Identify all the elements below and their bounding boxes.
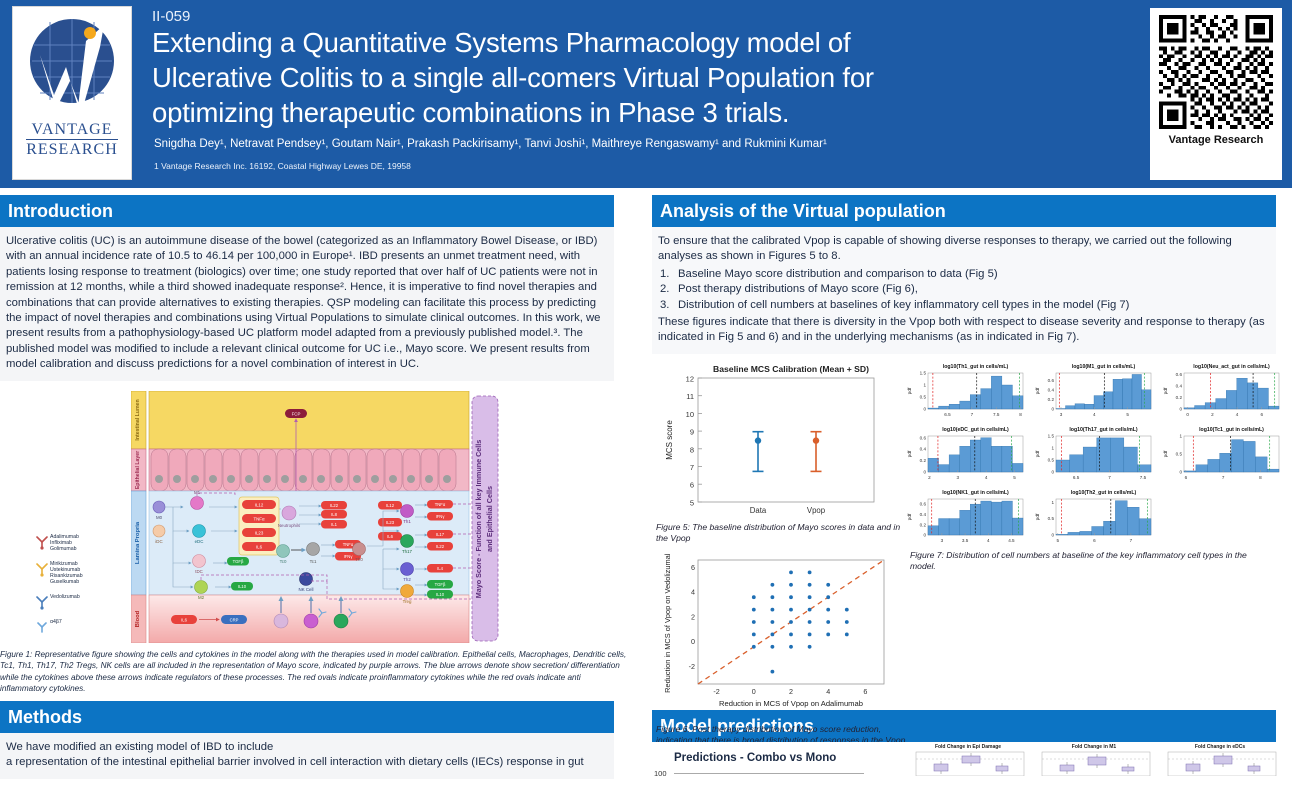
histogram-chart: log10(M1_gut in cells/mL)34500.20.40.6pd… <box>1032 360 1157 422</box>
scatter-point <box>808 620 812 624</box>
histogram-bar <box>960 446 971 472</box>
figure-8-axis <box>674 773 864 774</box>
figure-1: Adalimumab Infliximab Golimumab Mirikizu… <box>0 385 633 647</box>
figure-8-title: Predictions - Combo vs Mono <box>674 752 836 764</box>
scatter-point <box>826 632 830 636</box>
vantage-logo-mark <box>20 11 124 121</box>
list-item: 3. Distribution of cell numbers at basel… <box>658 298 1267 313</box>
lumen-marker-label: FCP <box>292 411 301 416</box>
figure-5-xtick: Vpop <box>807 506 826 515</box>
figure-5: Baseline MCS Calibration (Mean + SD) 121… <box>656 362 906 545</box>
figure-7-panel: log10(Th2_gut in cells/mL)56700.51pdf <box>1032 486 1157 548</box>
histogram-bar <box>1184 408 1195 409</box>
y-tick-label: 0.5 <box>1176 451 1183 456</box>
histogram-bar <box>1226 390 1237 409</box>
histogram-bar <box>970 440 981 472</box>
histogram-bar <box>939 518 950 534</box>
figure-8-ytick: 100 <box>654 769 667 778</box>
logo-text-research: RESEARCH <box>26 141 118 158</box>
svg-text:IL17: IL17 <box>436 532 445 537</box>
y-tick-label: 0.4 <box>920 447 927 452</box>
uc-pathophysiology-diagram: Intestinal Lumen Epithelial Layer Lamina… <box>131 391 503 643</box>
svg-text:IL22: IL22 <box>436 544 445 549</box>
svg-text:-2: -2 <box>713 687 719 696</box>
figure-5-chart: Baseline MCS Calibration (Mean + SD) 121… <box>656 362 904 517</box>
organization-logo: VANTAGE RESEARCH <box>12 6 132 180</box>
scatter-point <box>789 645 793 649</box>
list-item: 2. Post therapy distributions of Mayo sc… <box>658 282 1267 297</box>
right-column: Analysis of the Virtual population To en… <box>652 195 1292 776</box>
figure-1-caption: Figure 1: Representative figure showing … <box>0 649 633 695</box>
scatter-point <box>752 595 756 599</box>
box-3-chart <box>1160 750 1280 776</box>
svg-text:and Epithelial Cells: and Epithelial Cells <box>485 486 494 552</box>
scatter-point <box>771 670 775 674</box>
antibody-icon <box>34 533 50 551</box>
histogram-bar <box>1115 500 1127 534</box>
y-tick-label: 0.4 <box>920 512 927 517</box>
histogram-bar <box>1094 395 1104 408</box>
y-tick-label: 1 <box>1179 433 1182 438</box>
affiliation: 1 Vantage Research Inc. 16192, Coastal H… <box>154 160 1140 172</box>
x-tick-label: 6 <box>1260 412 1263 417</box>
drug-legend: Adalimumab Infliximab Golimumab Mirikizu… <box>34 533 138 643</box>
figure-6-ylabel: Reduction in MCS of Vpop on Vedolizumab <box>663 554 672 693</box>
y-tick-label: 0 <box>1051 469 1054 474</box>
histogram-bar <box>1237 378 1248 409</box>
histogram-bar <box>1247 383 1258 409</box>
section-body-introduction: Ulcerative colitis (UC) is an autoimmune… <box>0 227 614 381</box>
figure-8-box-1: Fold Change in Epi Damage <box>908 744 1028 781</box>
y-tick-label: 0.6 <box>1048 378 1055 383</box>
scatter-point <box>752 620 756 624</box>
section-header-methods: Methods <box>0 701 614 733</box>
svg-text:2: 2 <box>691 612 695 621</box>
histogram-bar <box>1080 531 1092 535</box>
list-item: 1. Baseline Mayo score distribution and … <box>658 267 1267 282</box>
svg-text:4: 4 <box>826 687 830 696</box>
x-tick-label: 3.5 <box>962 538 969 543</box>
histogram-bar <box>1132 374 1142 409</box>
histogram-bar <box>1066 405 1076 408</box>
list-item-label: Distribution of cell numbers at baseline… <box>678 299 1129 311</box>
y-tick-label: 0 <box>1051 532 1054 537</box>
svg-text:Th0: Th0 <box>355 557 363 562</box>
list-item-label: Baseline Mayo score distribution and com… <box>678 268 998 280</box>
histogram-bar <box>981 388 992 408</box>
figure-6: -202 46 -202 46 Reduction in MCS of Vpop… <box>656 554 906 747</box>
scatter-point <box>752 632 756 636</box>
scatter-point <box>826 595 830 599</box>
y-tick-label: 0 <box>1179 406 1182 411</box>
y-tick-label: 0 <box>1051 406 1054 411</box>
svg-text:IL6: IL6 <box>387 534 393 539</box>
svg-text:5: 5 <box>690 498 694 507</box>
histogram-bar <box>1012 518 1023 535</box>
scatter-point <box>826 620 830 624</box>
svg-text:Th17: Th17 <box>402 549 413 554</box>
histogram-bar <box>1124 447 1138 472</box>
figure-7-panel: log10(M1_gut in cells/mL)34500.20.40.6pd… <box>1032 360 1157 422</box>
scatter-point <box>789 620 793 624</box>
panel-ylabel: pdf <box>907 513 913 520</box>
scatter-point <box>789 608 793 612</box>
svg-text:-2: -2 <box>689 662 695 671</box>
histogram-bar <box>1012 463 1023 472</box>
x-tick-label: 2 <box>1211 412 1214 417</box>
logo-text-vantage: VANTAGE <box>32 121 113 138</box>
histogram-bar <box>1085 404 1095 409</box>
histogram-chart: log10(Neu_act_gut in cells/mL)024600.20.… <box>1160 360 1285 422</box>
x-tick-label: 6.5 <box>1073 475 1080 480</box>
x-tick-label: 7 <box>1130 538 1133 543</box>
x-tick-label: 4.5 <box>1008 538 1015 543</box>
svg-text:6: 6 <box>690 481 694 490</box>
svg-text:eDC: eDC <box>195 539 204 544</box>
poster-id: II-059 <box>152 8 1140 25</box>
author-list: Snigdha Dey¹, Netravat Pendsey¹, Goutam … <box>154 137 1140 151</box>
drug-name: Vedolizumab <box>50 594 80 600</box>
y-tick-label: 0.5 <box>1048 457 1055 462</box>
figure-7-panel: log10(eDC_gut in cells/mL)234500.20.40.6… <box>904 423 1029 485</box>
x-tick-label: 4 <box>1093 412 1096 417</box>
y-tick-label: 1 <box>1051 500 1054 505</box>
panel-title: log10(NK1_gut in cells/mL) <box>942 490 1009 496</box>
logo-divider <box>26 139 118 140</box>
figure-5-title: Baseline MCS Calibration (Mean + SD) <box>713 364 869 374</box>
drug-names: α4β7 <box>50 618 62 625</box>
x-tick-label: 8 <box>1019 412 1022 417</box>
figure-8-box-3: Fold Change in eDCs <box>1160 744 1280 781</box>
y-tick-label: 0.5 <box>920 394 927 399</box>
histogram-bar <box>1110 438 1124 472</box>
panel-ylabel: pdf <box>1035 513 1041 520</box>
scatter-point <box>789 595 793 599</box>
svg-text:8: 8 <box>690 445 694 454</box>
figure-7-panel: log10(Th1_gut in cells/mL)6.577.5800.511… <box>904 360 1029 422</box>
histogram-chart: log10(Th1_gut in cells/mL)6.577.5800.511… <box>904 360 1029 422</box>
svg-text:Mayo Score - Function of all: Mayo Score - Function of all key Immune … <box>474 439 483 598</box>
x-tick-label: 8 <box>1259 475 1262 480</box>
histogram-bar <box>1142 390 1152 409</box>
svg-text:IL12: IL12 <box>255 502 264 507</box>
histogram-bar <box>991 502 1002 535</box>
figure-6-chart: -202 46 -202 46 Reduction in MCS of Vpop… <box>656 554 904 719</box>
y-tick-label: 0.2 <box>920 522 927 527</box>
svg-text:Th1: Th1 <box>403 519 411 524</box>
svg-text:TNFα: TNFα <box>343 542 354 547</box>
histogram-bar <box>1268 406 1279 409</box>
poster-header: VANTAGE RESEARCH II-059 Extending a Quan… <box>0 0 1292 188</box>
histogram-bar <box>1196 465 1208 472</box>
y-tick-label: 0.2 <box>1048 397 1055 402</box>
scatter-point <box>808 583 812 587</box>
svg-text:IL6: IL6 <box>181 617 187 622</box>
poster-title-line-2: Ulcerative Colitis to a single all-comer… <box>152 61 1140 94</box>
drug-names: Vedolizumab <box>50 593 80 600</box>
histogram-bar <box>1012 396 1023 409</box>
scatter-point <box>808 570 812 574</box>
svg-text:IFNγ: IFNγ <box>344 554 354 559</box>
panel-ylabel: pdf <box>1163 450 1169 457</box>
y-tick-label: 0.6 <box>1176 372 1183 377</box>
scatter-point <box>789 570 793 574</box>
svg-text:IL8: IL8 <box>331 512 337 517</box>
svg-text:Neutrophils: Neutrophils <box>278 523 301 528</box>
histogram-bar <box>991 446 1002 472</box>
y-tick-label: 0.5 <box>1048 516 1055 521</box>
scatter-point <box>845 632 849 636</box>
list-item-number: 3. <box>660 298 669 313</box>
histogram-bar <box>949 518 960 534</box>
histogram-chart: log10(NK1_gut in cells/mL)33.544.500.20.… <box>904 486 1029 548</box>
panel-ylabel: pdf <box>1163 387 1169 394</box>
x-tick-label: 7 <box>1222 475 1225 480</box>
histogram-bar <box>1267 469 1279 472</box>
histogram-bar <box>981 438 992 472</box>
panel-title: log10(Tc1_gut in cells/mL) <box>1199 427 1264 433</box>
panel-title: log10(Neu_act_gut in cells/mL) <box>1193 364 1270 370</box>
svg-text:IL10: IL10 <box>436 592 445 597</box>
methods-text-line-1: We have modified an existing model of IB… <box>6 740 605 755</box>
svg-text:IL4: IL4 <box>437 566 443 571</box>
svg-text:TNFα: TNFα <box>435 502 446 507</box>
panel-title: log10(Th1_gut in cells/mL) <box>943 364 1009 370</box>
y-tick-label: 0.4 <box>1176 383 1183 388</box>
y-tick-label: 1 <box>1051 445 1054 450</box>
svg-text:IL23: IL23 <box>255 530 264 535</box>
scatter-point <box>789 583 793 587</box>
y-tick-label: 0.2 <box>1176 395 1183 400</box>
scatter-point <box>826 583 830 587</box>
y-tick-label: 0.2 <box>920 458 927 463</box>
figure-5-caption: Figure 5: The baseline distribution of M… <box>656 522 906 545</box>
histogram-bar <box>1002 501 1013 535</box>
histogram-bar <box>1195 405 1206 408</box>
qr-code-icon[interactable] <box>1159 15 1273 129</box>
panel-title: log10(Th17_gut in cells/mL) <box>1069 427 1138 433</box>
histogram-chart: log10(Th2_gut in cells/mL)56700.51pdf <box>1032 486 1157 548</box>
svg-text:9: 9 <box>690 427 694 436</box>
x-tick-label: 3 <box>1060 412 1063 417</box>
poster-root: VANTAGE RESEARCH II-059 Extending a Quan… <box>0 0 1292 800</box>
qr-code-panel[interactable]: Vantage Research <box>1150 8 1282 180</box>
histogram-bar <box>970 504 981 535</box>
svg-text:Intestinal Lumen: Intestinal Lumen <box>135 399 141 440</box>
list-item-label: Post therapy distributions of Mayo score… <box>678 283 918 295</box>
drug-name: Mirikizumab <box>50 561 83 567</box>
section-body-methods: We have modified an existing model of IB… <box>0 733 614 779</box>
section-body-analysis: To ensure that the calibrated Vpop is ca… <box>652 227 1276 354</box>
svg-text:TGFβ: TGFβ <box>435 582 446 587</box>
figure-5-xtick: Data <box>750 506 767 515</box>
figure-7-panel-grid: log10(Th1_gut in cells/mL)6.577.5800.511… <box>904 360 1292 550</box>
figure-7: log10(Th1_gut in cells/mL)6.577.5800.511… <box>904 360 1292 573</box>
analysis-intro: To ensure that the calibrated Vpop is ca… <box>658 234 1267 265</box>
y-tick-label: 0.4 <box>1048 387 1055 392</box>
receptor-icon <box>34 618 50 636</box>
antibody-icon <box>34 593 50 611</box>
x-tick-label: 7 <box>1108 475 1111 480</box>
histogram-bar <box>1075 404 1085 409</box>
panel-ylabel: pdf <box>1035 387 1041 394</box>
svg-text:7: 7 <box>690 463 694 472</box>
svg-text:M0: M0 <box>156 515 163 520</box>
svg-text:2: 2 <box>789 687 793 696</box>
drug-legend-item: Mirikizumab Ustekinumab Risankizumab Gus… <box>34 560 138 586</box>
histogram-bar <box>1083 447 1097 472</box>
x-tick-label: 4 <box>987 538 990 543</box>
histogram-bar <box>981 501 992 535</box>
svg-text:0: 0 <box>691 637 695 646</box>
figure-7-panel: log10(NK1_gut in cells/mL)33.544.500.20.… <box>904 486 1029 548</box>
figure-7-caption: Figure 7: Distribution of cell numbers a… <box>904 550 1292 573</box>
drug-legend-item: Vedolizumab <box>34 593 138 611</box>
right-figures: Baseline MCS Calibration (Mean + SD) 121… <box>652 358 1292 718</box>
histogram-bar <box>1002 385 1013 409</box>
y-tick-label: 1.5 <box>920 370 927 375</box>
histogram-bar <box>1068 532 1080 535</box>
svg-text:IL22: IL22 <box>330 503 339 508</box>
svg-text:4: 4 <box>691 587 695 596</box>
histogram-bar <box>1123 379 1133 409</box>
x-tick-label: 3 <box>956 475 959 480</box>
analysis-outro: These figures indicate that there is div… <box>658 315 1267 346</box>
histogram-chart: log10(eDC_gut in cells/mL)234500.20.40.6… <box>904 423 1029 485</box>
box-2-chart <box>1034 750 1154 776</box>
x-tick-label: 4 <box>1236 412 1239 417</box>
drug-names: Adalimumab Infliximab Golimumab <box>50 533 79 553</box>
figure-7-panel: log10(Neu_act_gut in cells/mL)024600.20.… <box>1160 360 1285 422</box>
panel-ylabel: pdf <box>1035 450 1041 457</box>
section-header-introduction: Introduction <box>0 195 614 227</box>
y-tick-label: 1.5 <box>1048 433 1055 438</box>
svg-text:IL12: IL12 <box>386 503 395 508</box>
panel-ylabel: pdf <box>907 387 913 394</box>
histogram-bar <box>1092 526 1104 535</box>
y-tick-label: 0 <box>923 469 926 474</box>
y-tick-label: 0.6 <box>920 435 927 440</box>
drug-legend-item: Adalimumab Infliximab Golimumab <box>34 533 138 553</box>
panel-title: log10(M1_gut in cells/mL) <box>1072 364 1136 370</box>
box-1-chart <box>908 750 1028 776</box>
list-item-number: 1. <box>660 267 669 282</box>
scatter-point <box>771 620 775 624</box>
figure-8-box-2: Fold Change in M1 <box>1034 744 1154 781</box>
svg-text:Tc1: Tc1 <box>310 559 317 564</box>
scatter-point <box>808 632 812 636</box>
y-tick-label: 0 <box>923 532 926 537</box>
scatter-point <box>771 583 775 587</box>
svg-text:Lamina Propria: Lamina Propria <box>135 521 141 564</box>
panel-title: log10(eDC_gut in cells/mL) <box>942 427 1009 433</box>
svg-text:Epithelial Layer: Epithelial Layer <box>135 450 141 488</box>
scatter-point <box>845 620 849 624</box>
poster-title-line-3: optimizing therapeutic combinations in P… <box>152 96 1140 129</box>
svg-text:IL23: IL23 <box>386 520 395 525</box>
svg-text:Th2: Th2 <box>403 577 411 582</box>
scatter-point <box>808 608 812 612</box>
x-tick-label: 6 <box>1185 475 1188 480</box>
svg-text:IL1: IL1 <box>331 522 337 527</box>
y-tick-label: 0 <box>1179 469 1182 474</box>
list-item-number: 2. <box>660 282 669 297</box>
x-tick-label: 6 <box>1093 538 1096 543</box>
analysis-list: 1. Baseline Mayo score distribution and … <box>658 267 1267 313</box>
histogram-bar <box>1258 388 1269 409</box>
histogram-bar <box>1097 438 1111 472</box>
histogram-bar <box>1255 457 1267 472</box>
drug-name: Golimumab <box>50 546 79 552</box>
poster-title-line-1: Extending a Quantitative Systems Pharmac… <box>152 26 1140 59</box>
histogram-bar <box>960 401 971 409</box>
figure-5-ylabel: MCS score <box>665 420 674 460</box>
panel-title: log10(Th2_gut in cells/mL) <box>1071 490 1137 496</box>
histogram-bar <box>1216 398 1227 408</box>
scatter-point <box>752 645 756 649</box>
histogram-bar <box>960 510 971 535</box>
svg-text:6: 6 <box>863 687 867 696</box>
histogram-chart: log10(Tc1_gut in cells/mL)67800.51pdf <box>1160 423 1285 485</box>
histogram-bar <box>1220 453 1232 472</box>
figure-7-panel: log10(Tc1_gut in cells/mL)67800.51pdf <box>1160 423 1285 485</box>
left-column: Introduction Ulcerative colitis (UC) is … <box>0 195 633 779</box>
histogram-bar <box>1056 460 1070 472</box>
histogram-bar <box>949 455 960 472</box>
scatter-point <box>789 632 793 636</box>
section-header-analysis: Analysis of the Virtual population <box>652 195 1276 227</box>
svg-text:10: 10 <box>686 410 694 419</box>
x-tick-label: 5 <box>1057 538 1060 543</box>
scatter-point <box>826 608 830 612</box>
x-tick-label: 2 <box>928 475 931 480</box>
histogram-bar <box>970 394 981 408</box>
figure-7-panel: log10(Th17_gut in cells/mL)6.577.500.511… <box>1032 423 1157 485</box>
x-tick-label: 5 <box>1126 412 1129 417</box>
scatter-point <box>808 645 812 649</box>
scatter-point <box>808 595 812 599</box>
histogram-bar <box>1127 507 1139 535</box>
histogram-bar <box>1232 439 1244 471</box>
histogram-bar <box>1113 379 1123 409</box>
scatter-point <box>771 595 775 599</box>
header-main: II-059 Extending a Quantitative Systems … <box>140 0 1146 188</box>
y-tick-label: 1 <box>923 382 926 387</box>
x-tick-label: 7 <box>971 412 974 417</box>
scatter-point <box>752 608 756 612</box>
histogram-bar <box>1070 455 1084 472</box>
panel-ylabel: pdf <box>907 450 913 457</box>
svg-text:CRP: CRP <box>230 617 239 622</box>
svg-text:M2: M2 <box>198 595 205 600</box>
histogram-bar <box>949 404 960 409</box>
svg-text:IL6: IL6 <box>256 544 263 549</box>
histogram-bar <box>928 408 939 409</box>
histogram-bar <box>1104 392 1114 409</box>
histogram-bar <box>1104 521 1116 535</box>
drug-names: Mirikizumab Ustekinumab Risankizumab Gus… <box>50 560 83 586</box>
svg-text:IFNγ: IFNγ <box>436 514 446 519</box>
x-tick-label: 0 <box>1186 412 1189 417</box>
scatter-point <box>845 608 849 612</box>
svg-text:TNFα: TNFα <box>253 516 265 521</box>
svg-text:Blood: Blood <box>135 610 141 627</box>
x-tick-label: 5 <box>1013 475 1016 480</box>
histogram-bar <box>939 464 950 471</box>
histogram-bar <box>1002 446 1013 472</box>
y-tick-label: 0.6 <box>920 502 927 507</box>
scatter-point <box>771 645 775 649</box>
